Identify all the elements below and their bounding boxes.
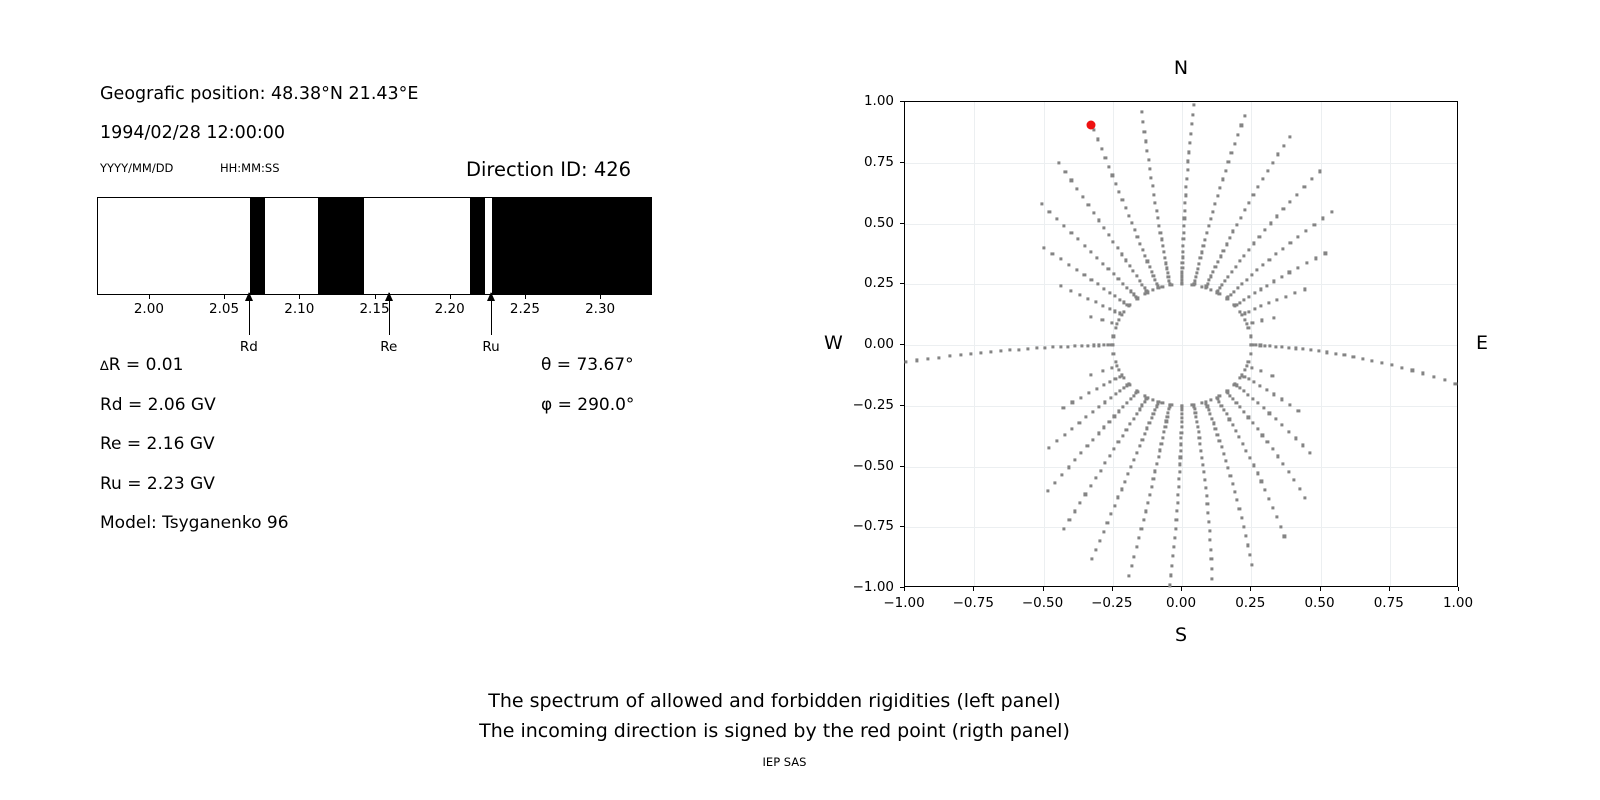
inner-ring-dot: [1117, 369, 1120, 372]
direction-dot: [1181, 256, 1184, 259]
direction-dot: [1180, 416, 1183, 419]
direction-dot: [1166, 271, 1169, 274]
direction-dot: [1119, 389, 1122, 392]
inner-ring-dot: [1226, 297, 1229, 300]
direction-dot: [1361, 357, 1364, 360]
direction-dot: [1092, 438, 1095, 441]
inner-ring-dot: [1152, 399, 1155, 402]
x-axis-label: 0.50: [1304, 595, 1334, 611]
direction-dot: [1227, 467, 1230, 470]
direction-dot: [1182, 231, 1185, 234]
direction-dot: [1301, 444, 1304, 447]
direction-dot: [1287, 430, 1290, 433]
direction-dot: [1099, 469, 1102, 472]
direction-dot: [1214, 202, 1217, 205]
x-axis-tick: [1389, 587, 1390, 591]
compass-east: E: [1476, 332, 1488, 354]
direction-dot: [1228, 418, 1231, 421]
direction-dot: [1288, 135, 1291, 138]
direction-dot: [1263, 344, 1266, 347]
direction-dot: [1250, 563, 1253, 566]
x-axis-label: −0.75: [953, 595, 994, 611]
direction-dot: [1156, 285, 1159, 288]
direction-dot: [1070, 231, 1073, 234]
direction-dot: [1209, 538, 1212, 541]
direction-dot: [1168, 279, 1171, 282]
direction-dot: [1079, 501, 1082, 504]
direction-dot: [1111, 174, 1114, 177]
direction-dot: [980, 351, 983, 354]
direction-dot: [1162, 250, 1165, 253]
direction-dot: [1101, 369, 1104, 372]
direction-dot: [1132, 394, 1135, 397]
direction-dot: [1238, 386, 1241, 389]
direction-dot: [1178, 463, 1181, 466]
direction-dot: [1180, 421, 1183, 424]
y-axis-label: −0.75: [842, 518, 894, 534]
direction-dot: [1078, 421, 1081, 424]
y-axis-label: −0.25: [842, 397, 894, 413]
direction-dot: [1251, 421, 1254, 424]
direction-plot-panel: −1.00−0.75−0.50−0.250.000.250.500.751.00…: [0, 0, 1600, 660]
direction-dot: [927, 357, 930, 360]
direction-dot: [1142, 518, 1145, 521]
direction-dot: [1238, 260, 1241, 263]
direction-dot: [1146, 501, 1149, 504]
direction-dot: [1262, 407, 1265, 410]
direction-dot: [1080, 344, 1083, 347]
direction-dot: [1210, 417, 1213, 420]
direction-dot: [1204, 486, 1207, 489]
direction-dot: [1224, 169, 1227, 172]
direction-dot: [1157, 455, 1160, 458]
inner-ring-dot: [1239, 311, 1242, 314]
direction-dot: [1298, 487, 1301, 490]
direction-dot: [1189, 132, 1192, 135]
direction-dot: [1089, 485, 1092, 488]
direction-dot: [999, 349, 1002, 352]
direction-dot: [1275, 298, 1278, 301]
direction-dot: [1148, 422, 1151, 425]
direction-dot: [1163, 430, 1166, 433]
direction-dot: [1227, 275, 1230, 278]
direction-dot: [1282, 462, 1285, 465]
direction-dot: [1234, 429, 1237, 432]
direction-dot: [1208, 279, 1211, 282]
direction-dot: [1051, 346, 1054, 349]
direction-dot: [1280, 275, 1283, 278]
direction-dot: [989, 350, 992, 353]
direction-dot: [1067, 466, 1070, 469]
caption: The spectrum of allowed and forbidden ri…: [0, 686, 1549, 746]
gridline-vertical: [974, 102, 975, 586]
direction-dot: [1174, 527, 1177, 530]
direction-dot: [1251, 366, 1254, 369]
direction-dot: [1330, 210, 1333, 213]
direction-dot: [1225, 243, 1228, 246]
direction-dot: [1135, 412, 1138, 415]
direction-dot: [1118, 375, 1121, 378]
direction-dot: [959, 353, 962, 356]
direction-dot: [1289, 200, 1292, 203]
direction-dot: [1304, 496, 1307, 499]
direction-dot: [915, 359, 918, 362]
direction-dot: [1169, 574, 1172, 577]
inner-ring-dot: [1180, 283, 1183, 286]
direction-dot: [1118, 191, 1121, 194]
direction-dot: [1103, 287, 1106, 290]
direction-dot: [1222, 249, 1225, 252]
direction-dot: [1151, 185, 1154, 188]
direction-dot: [1087, 203, 1090, 206]
direction-dot: [1231, 423, 1234, 426]
direction-dot: [1271, 447, 1274, 450]
direction-dot: [1260, 370, 1263, 373]
direction-dot: [1181, 261, 1184, 264]
direction-dot: [1118, 298, 1121, 301]
direction-dot: [1287, 346, 1290, 349]
direction-dot: [1179, 443, 1182, 446]
direction-dot: [1216, 433, 1219, 436]
direction-dot: [1247, 310, 1250, 313]
direction-dot: [1248, 553, 1251, 556]
direction-dot: [1271, 161, 1274, 164]
x-axis-tick: [1320, 587, 1321, 591]
direction-dot: [1179, 456, 1182, 459]
direction-dot: [1240, 516, 1243, 519]
direction-dot: [1223, 279, 1226, 282]
direction-dot: [1207, 520, 1210, 523]
direction-dot: [1102, 384, 1105, 387]
direction-dot: [1216, 194, 1219, 197]
direction-dot: [1135, 275, 1138, 278]
direction-dot: [1126, 472, 1129, 475]
y-axis-label: 1.00: [842, 93, 894, 109]
direction-dot: [1090, 250, 1093, 253]
x-axis-label: 0.75: [1374, 595, 1404, 611]
direction-dot: [1250, 274, 1253, 277]
direction-dot: [1067, 345, 1070, 348]
direction-dot: [1136, 235, 1139, 238]
direction-dot: [1268, 258, 1271, 261]
direction-dot: [1198, 436, 1201, 439]
y-axis-label: −0.50: [842, 458, 894, 474]
direction-dot: [1227, 161, 1230, 164]
direction-dot: [1133, 229, 1136, 232]
inner-ring-dot: [1243, 369, 1246, 372]
direction-dot: [1231, 482, 1234, 485]
inner-ring-dot: [1161, 285, 1164, 288]
direction-dot: [1269, 222, 1272, 225]
direction-dot: [1118, 312, 1121, 315]
direction-dot: [1083, 244, 1086, 247]
inner-ring-dot: [1122, 376, 1125, 379]
direction-dot: [1117, 277, 1120, 280]
y-axis-label: 0.75: [842, 154, 894, 170]
direction-dot: [1183, 209, 1186, 212]
direction-dot: [1264, 488, 1267, 491]
direction-dot: [1059, 285, 1062, 288]
direction-dot: [1115, 364, 1118, 367]
direction-dot: [1186, 169, 1189, 172]
direction-dot: [1092, 211, 1095, 214]
direction-dot: [1159, 231, 1162, 234]
direction-dot: [1073, 510, 1076, 513]
compass-north: N: [1174, 57, 1188, 79]
direction-dot: [1190, 123, 1193, 126]
direction-dot: [1202, 245, 1205, 248]
direction-dot: [1228, 236, 1231, 239]
direction-dot: [1224, 459, 1227, 462]
y-axis-tick: [900, 344, 904, 345]
direction-dot: [1246, 393, 1249, 396]
direction-dot: [1068, 519, 1071, 522]
direction-dot: [1114, 393, 1117, 396]
direction-dot: [1202, 470, 1205, 473]
x-axis-tick: [1250, 587, 1251, 591]
direction-dot: [1192, 103, 1195, 106]
inner-ring-dot: [1161, 402, 1164, 405]
direction-dot: [1101, 262, 1104, 265]
inner-ring-dot: [1135, 297, 1138, 300]
direction-dot: [1090, 373, 1093, 376]
direction-dot: [1152, 193, 1155, 196]
direction-dot: [1219, 255, 1222, 258]
direction-dot: [1130, 221, 1133, 224]
direction-dot: [1180, 431, 1183, 434]
inner-ring-dot: [1247, 361, 1250, 364]
direction-dot: [1222, 408, 1225, 411]
direction-dot: [1206, 503, 1209, 506]
direction-dot: [1220, 446, 1223, 449]
x-axis-label: −0.50: [1022, 595, 1063, 611]
direction-dot: [1113, 447, 1116, 450]
direction-dot: [1261, 178, 1264, 181]
direction-dot: [1454, 382, 1457, 385]
direction-dot: [1214, 427, 1217, 430]
direction-dot: [1221, 178, 1224, 181]
inner-ring-dot: [1135, 389, 1138, 392]
direction-dot: [1252, 381, 1255, 384]
direction-dot: [1279, 525, 1282, 528]
inner-ring-dot: [1128, 304, 1131, 307]
direction-dot: [1210, 568, 1213, 571]
gridline-vertical: [1321, 102, 1322, 586]
direction-dot: [1275, 515, 1278, 518]
direction-dot: [1143, 130, 1146, 133]
inner-ring-dot: [1171, 404, 1174, 407]
direction-dot: [1078, 293, 1081, 296]
direction-dot: [1258, 384, 1261, 387]
direction-dot: [1185, 177, 1188, 180]
inner-ring-dot: [1122, 311, 1125, 314]
gridline-vertical: [1044, 102, 1045, 586]
direction-dot: [1233, 143, 1236, 146]
direction-dot: [1268, 497, 1271, 500]
direction-dot: [1107, 233, 1110, 236]
direction-dot: [1051, 252, 1054, 255]
inner-ring-dot: [1112, 352, 1115, 355]
direction-dot: [1252, 464, 1255, 467]
direction-dot: [1068, 263, 1071, 266]
direction-dot: [1293, 291, 1296, 294]
inner-ring-dot: [1209, 288, 1212, 291]
direction-dot: [1180, 437, 1183, 440]
inner-ring-dot: [1226, 389, 1229, 392]
x-axis-tick: [1181, 587, 1182, 591]
direction-dot: [1130, 565, 1133, 568]
direction-dot: [1343, 354, 1346, 357]
inner-ring-dot: [1180, 404, 1183, 407]
direction-dot: [1209, 412, 1212, 415]
direction-dot: [1165, 267, 1168, 270]
gridline-horizontal: [905, 345, 1457, 346]
direction-dot: [1204, 238, 1207, 241]
direction-dot: [1325, 351, 1328, 354]
direction-dot: [1282, 208, 1285, 211]
direction-dot: [1280, 424, 1283, 427]
direction-dot: [1127, 574, 1130, 577]
direction-dot: [1247, 201, 1250, 204]
direction-dot: [1260, 480, 1263, 483]
inner-ring-dot: [1239, 376, 1242, 379]
direction-dot: [1197, 431, 1200, 434]
direction-dot: [1084, 493, 1087, 496]
direction-dot: [1280, 398, 1283, 401]
direction-dot: [1113, 504, 1116, 507]
direction-dot: [1236, 133, 1239, 136]
direction-dot: [1116, 247, 1119, 250]
direction-dot: [1048, 210, 1051, 213]
direction-dot: [1172, 555, 1175, 558]
direction-dot: [1205, 232, 1208, 235]
inner-ring-dot: [1152, 288, 1155, 291]
direction-dot: [969, 352, 972, 355]
direction-dot: [1269, 345, 1272, 348]
direction-dot: [1421, 372, 1424, 375]
direction-dot: [1240, 282, 1243, 285]
direction-dot: [1218, 287, 1221, 290]
x-axis-label: 0.25: [1235, 595, 1265, 611]
direction-dot: [1244, 534, 1247, 537]
direction-dot: [1265, 284, 1268, 287]
direction-dot: [1253, 307, 1256, 310]
direction-dot: [1266, 440, 1269, 443]
direction-dot: [1069, 289, 1072, 292]
direction-dot: [1272, 393, 1275, 396]
direction-dot: [1097, 432, 1100, 435]
caption-line-1: The spectrum of allowed and forbidden ri…: [0, 686, 1549, 716]
direction-dot: [1104, 401, 1107, 404]
direction-dot: [1266, 170, 1269, 173]
direction-dot: [1132, 417, 1135, 420]
direction-dot: [1256, 269, 1259, 272]
direction-dot: [1167, 276, 1170, 279]
direction-dot: [1083, 273, 1086, 276]
direction-dot: [1077, 238, 1080, 241]
x-axis-label: −0.25: [1091, 595, 1132, 611]
direction-dot: [1177, 493, 1180, 496]
inner-ring-dot: [1117, 318, 1120, 321]
direction-dot: [1267, 302, 1270, 305]
direction-dot: [1081, 195, 1084, 198]
direction-dot: [1243, 254, 1246, 257]
direction-dot: [1104, 156, 1107, 159]
direction-dot: [1155, 209, 1158, 212]
direction-dot: [1180, 426, 1183, 429]
direction-dot: [1200, 449, 1203, 452]
direction-dot: [1216, 260, 1219, 263]
direction-dot: [1308, 451, 1311, 454]
direction-dot: [1207, 408, 1210, 411]
direction-dot: [1164, 262, 1167, 265]
direction-dot: [1110, 321, 1113, 324]
direction-dot: [1135, 451, 1138, 454]
direction-dot: [1086, 344, 1089, 347]
direction-dot: [1200, 251, 1203, 254]
direction-dot: [1245, 364, 1248, 367]
direction-dot: [1245, 278, 1248, 281]
direction-dot: [1058, 161, 1061, 164]
direction-dot: [1208, 529, 1211, 532]
direction-dot: [1114, 377, 1117, 380]
direction-dot: [1055, 217, 1058, 220]
direction-dot: [1247, 416, 1250, 419]
y-axis-tick: [900, 223, 904, 224]
y-axis-tick: [900, 162, 904, 163]
direction-dot: [1229, 293, 1232, 296]
inner-ring-dot: [1200, 402, 1203, 405]
direction-dot: [1107, 267, 1110, 270]
direction-dot: [1241, 442, 1244, 445]
direction-dot: [1411, 369, 1414, 372]
direction-dot: [1141, 248, 1144, 251]
direction-dot: [1055, 439, 1058, 442]
direction-dot: [1120, 488, 1123, 491]
direction-dot: [1207, 225, 1210, 228]
direction-dot: [1176, 501, 1179, 504]
direction-dot: [1088, 391, 1091, 394]
direction-dot: [1086, 445, 1089, 448]
direction-dot: [1212, 422, 1215, 425]
direction-dot: [1260, 305, 1263, 308]
compass-west: W: [824, 332, 843, 354]
direction-dot: [1098, 405, 1101, 408]
direction-dot: [1112, 273, 1115, 276]
direction-dot: [1123, 480, 1126, 483]
direction-dot: [1181, 271, 1184, 274]
direction-dot: [1309, 349, 1312, 352]
inner-ring-dot: [1128, 383, 1131, 386]
direction-dot: [1282, 144, 1285, 147]
inner-ring-dot: [1111, 343, 1114, 346]
direction-dot: [1203, 478, 1206, 481]
direction-dot: [1261, 434, 1264, 437]
direction-dot: [1133, 555, 1136, 558]
direction-dot: [1242, 525, 1245, 528]
direction-dot: [1281, 247, 1284, 250]
direction-dot: [1281, 345, 1284, 348]
gridline-horizontal: [905, 467, 1457, 468]
direction-dot: [1297, 409, 1300, 412]
direction-dot: [1240, 124, 1243, 127]
direction-dot: [1054, 481, 1057, 484]
direction-dot: [1121, 199, 1124, 202]
direction-dot: [1100, 147, 1103, 150]
direction-dot: [1390, 364, 1393, 367]
direction-dot: [1324, 252, 1327, 255]
direction-dot: [1062, 406, 1065, 409]
